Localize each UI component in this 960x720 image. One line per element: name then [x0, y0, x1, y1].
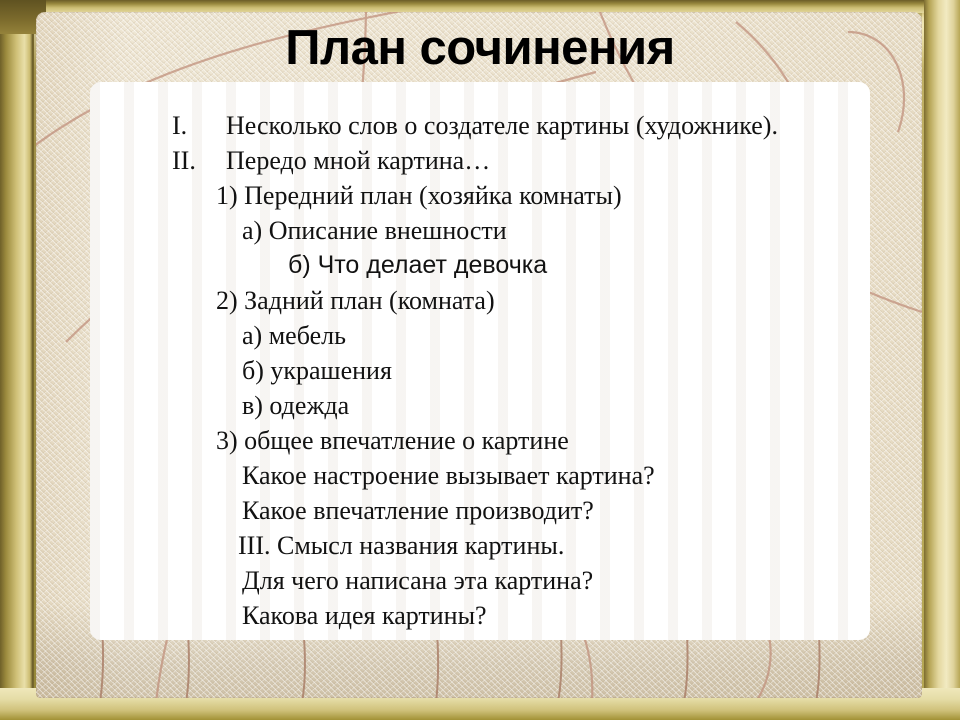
- plan-line-marker: I.: [172, 108, 226, 143]
- slide-canvas: План сочинения I.Несколько слов о создат…: [0, 0, 960, 720]
- page-title: План сочинения: [0, 20, 960, 76]
- plan-line-item-2-1-a: а) Описание внешности: [90, 213, 870, 248]
- plan-line-text: 1) Передний план (хозяйка комнаты): [216, 181, 622, 210]
- plan-line-item-2-2: 2) Задний план (комната): [90, 283, 870, 318]
- plan-line-text: б) украшения: [242, 356, 392, 385]
- plan-line-text: Какое впечатление производит?: [242, 496, 594, 525]
- plan-line-item-2-2-a: а) мебель: [90, 318, 870, 353]
- plan-line-text: 3) общее впечатление о картине: [216, 426, 569, 455]
- plan-line-item-2-3: 3) общее впечатление о картине: [90, 423, 870, 458]
- plan-line-item-2-3-q1: Какое настроение вызывает картина?: [90, 458, 870, 493]
- plan-line-marker: II.: [172, 143, 226, 178]
- plan-line-text: Какое настроение вызывает картина?: [242, 461, 655, 490]
- plan-line-text: III. Смысл названия картины.: [238, 531, 564, 560]
- plan-line-item-3-q2: Какова идея картины?: [90, 598, 870, 633]
- plan-line-item-2-2-v: в) одежда: [90, 388, 870, 423]
- plan-content-card: I.Несколько слов о создателе картины (ху…: [90, 82, 870, 640]
- plan-line-text: а) Описание внешности: [242, 216, 507, 245]
- plan-line-text: Несколько слов о создателе картины (худо…: [226, 111, 778, 140]
- plan-line-text: Для чего написана эта картина?: [242, 566, 593, 595]
- plan-line-item-2-1-b: б) Что делает девочка: [90, 248, 870, 283]
- plan-line-item-1: I.Несколько слов о создателе картины (ху…: [90, 108, 870, 143]
- plan-line-text: Передо мной картина…: [226, 146, 490, 175]
- plan-line-item-2-2-b: б) украшения: [90, 353, 870, 388]
- plan-line-item-2-1: 1) Передний план (хозяйка комнаты): [90, 178, 870, 213]
- slide-frame-left-rail: [0, 0, 34, 720]
- plan-line-item-2: II.Передо мной картина…: [90, 143, 870, 178]
- plan-line-item-3: III. Смысл названия картины.: [90, 528, 870, 563]
- plan-line-text: а) мебель: [242, 321, 346, 350]
- plan-line-text: в) одежда: [242, 391, 349, 420]
- plan-line-text: 2) Задний план (комната): [216, 286, 495, 315]
- slide-frame-right-rail: [924, 0, 960, 720]
- plan-line-text: б) Что делает девочка: [288, 251, 547, 279]
- plan-line-item-3-q1: Для чего написана эта картина?: [90, 563, 870, 598]
- plan-list: I.Несколько слов о создателе картины (ху…: [90, 82, 870, 633]
- plan-line-item-2-3-q2: Какое впечатление производит?: [90, 493, 870, 528]
- plan-line-text: Какова идея картины?: [242, 601, 487, 630]
